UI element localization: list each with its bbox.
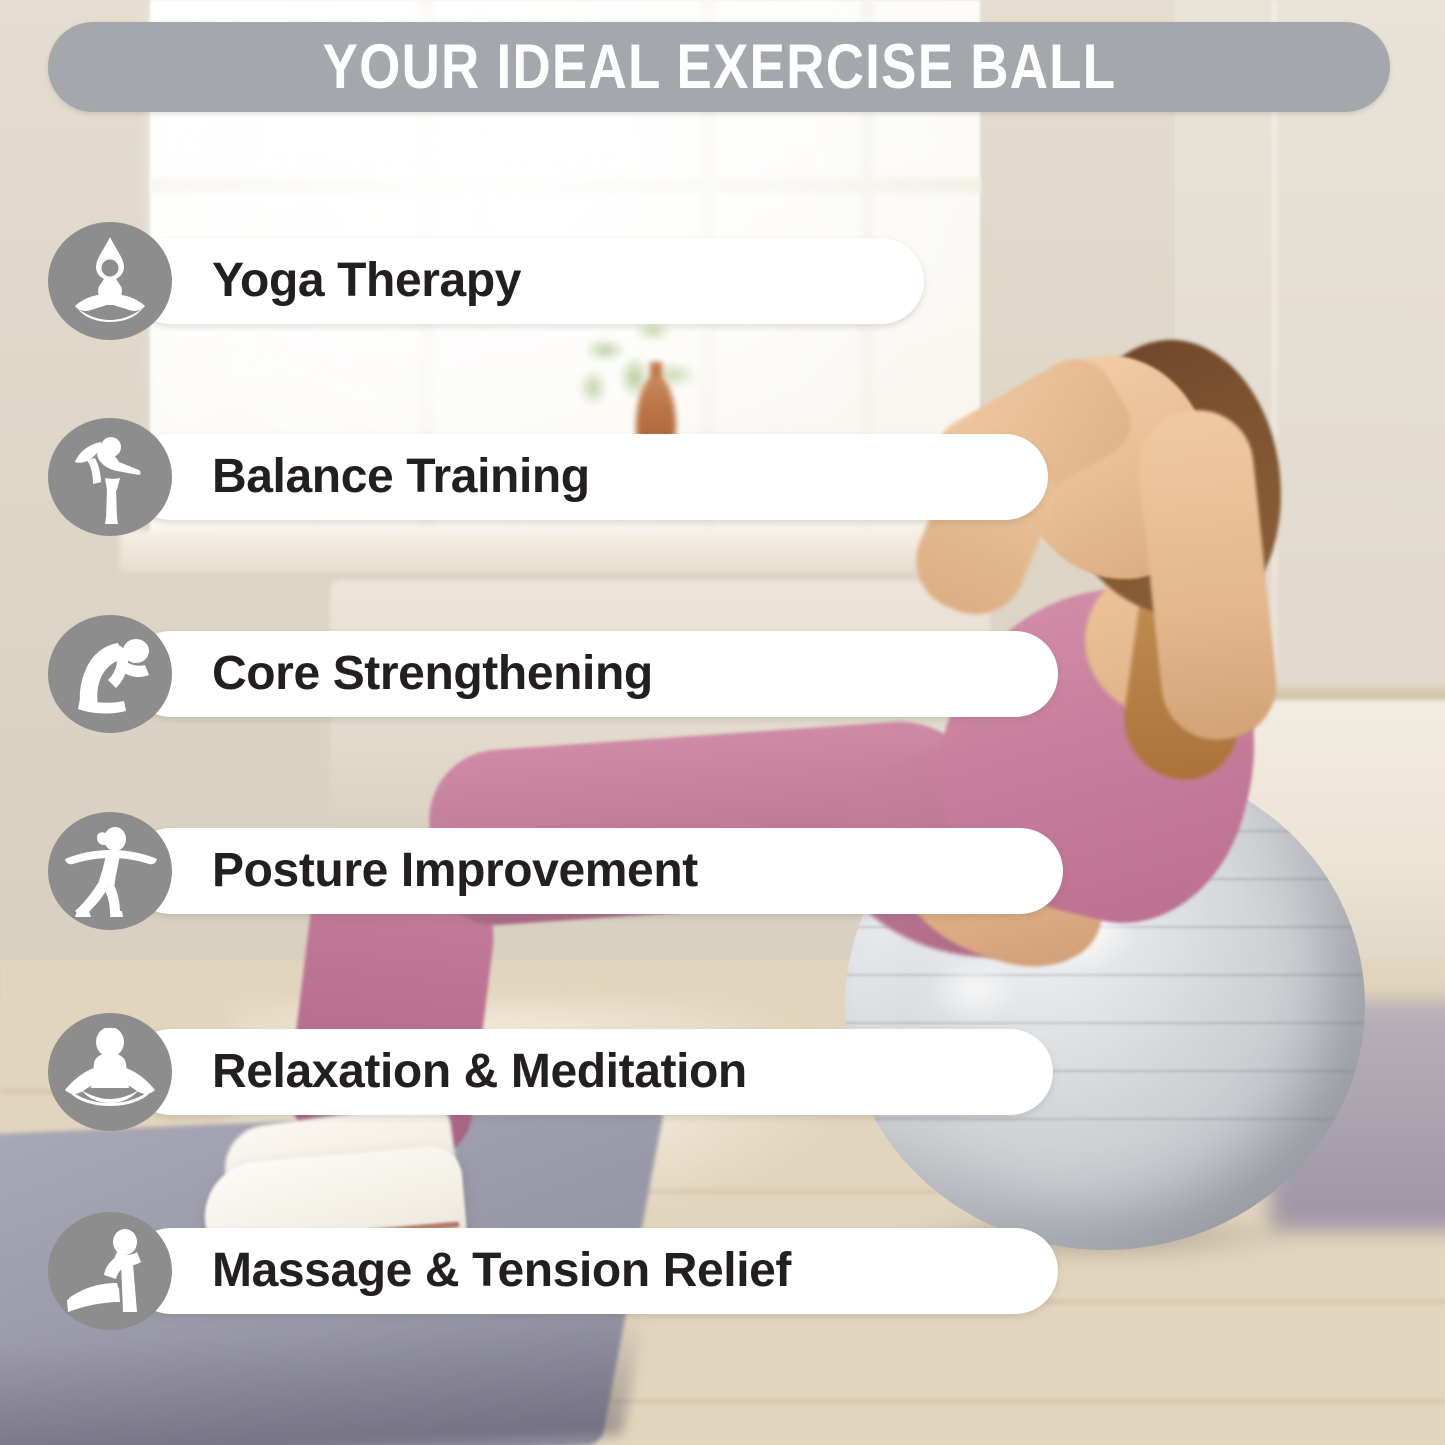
massage-therapy-icon: [48, 1212, 172, 1330]
header-banner: YOUR IDEAL EXERCISE BALL: [48, 22, 1390, 112]
feature-pill[interactable]: Yoga Therapy: [128, 238, 924, 324]
meditation-lotus-icon: [48, 1013, 172, 1131]
feature-label: Core Strengthening: [212, 650, 653, 698]
feature-pill[interactable]: Core Strengthening: [128, 631, 1058, 717]
feature-pill[interactable]: Relaxation & Meditation: [128, 1029, 1053, 1115]
feature-row-relaxation-meditation[interactable]: Relaxation & Meditation: [48, 1013, 1053, 1131]
overlay-layer: YOUR IDEAL EXERCISE BALL Yoga Therapy: [0, 0, 1445, 1445]
feature-pill[interactable]: Balance Training: [128, 434, 1048, 520]
feature-label: Yoga Therapy: [212, 257, 521, 305]
balance-standing-pose-icon: [48, 418, 172, 536]
warrior-stretch-pose-icon: [48, 812, 172, 930]
feature-pill[interactable]: Massage & Tension Relief: [128, 1228, 1058, 1314]
yoga-lotus-arms-up-icon: [48, 222, 172, 340]
feature-label: Balance Training: [212, 453, 590, 501]
feature-label: Relaxation & Meditation: [212, 1048, 747, 1096]
feature-row-massage-tension-relief[interactable]: Massage & Tension Relief: [48, 1212, 1058, 1330]
feature-label: Massage & Tension Relief: [212, 1247, 791, 1295]
feature-pill[interactable]: Posture Improvement: [128, 828, 1063, 914]
page-title: YOUR IDEAL EXERCISE BALL: [322, 36, 1116, 99]
core-crunch-icon: [48, 615, 172, 733]
feature-row-posture-improvement[interactable]: Posture Improvement: [48, 812, 1063, 930]
feature-row-core-strengthening[interactable]: Core Strengthening: [48, 615, 1058, 733]
feature-label: Posture Improvement: [212, 847, 698, 895]
feature-row-balance-training[interactable]: Balance Training: [48, 418, 1048, 536]
infographic-canvas: YOUR IDEAL EXERCISE BALL Yoga Therapy: [0, 0, 1445, 1445]
feature-row-yoga-therapy[interactable]: Yoga Therapy: [48, 222, 924, 340]
